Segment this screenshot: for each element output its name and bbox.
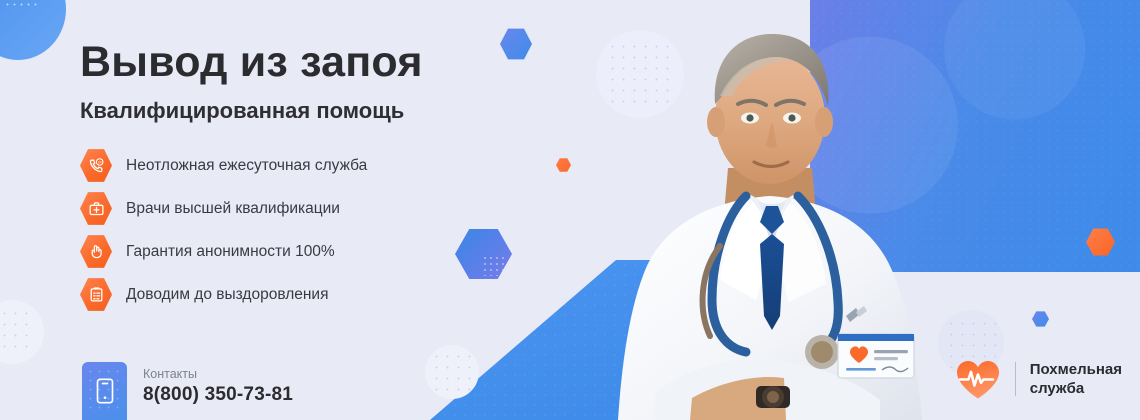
phone-24h-icon: 24 [80, 149, 112, 183]
brand-logo[interactable]: Похмельная служба [955, 358, 1122, 400]
feature-list: 24 Неотложная ежесуточная служба Врачи в… [80, 144, 367, 316]
list-item-label: Неотложная ежесуточная служба [126, 157, 367, 175]
contacts-block[interactable]: Контакты 8(800) 350-73-81 [82, 362, 293, 420]
list-item: 24 Неотложная ежесуточная служба [80, 144, 367, 187]
list-item: Гарантия анонимности 100% [80, 230, 367, 273]
logo-text: Похмельная служба [1030, 360, 1122, 398]
logo-divider [1015, 362, 1016, 396]
promo-banner: Вывод из запоя Квалифицированная помощь … [0, 0, 1140, 420]
list-item-label: Гарантия анонимности 100% [126, 243, 335, 261]
doctor-photo [560, 0, 980, 420]
heart-pulse-icon [955, 358, 1001, 400]
list-item-label: Врачи высшей квалификации [126, 200, 340, 218]
page-subtitle: Квалифицированная помощь [80, 98, 404, 124]
contacts-text: Контакты 8(800) 350-73-81 [127, 366, 293, 420]
logo-text-line2: служба [1030, 380, 1084, 397]
list-item-label: Доводим до выздоровления [126, 286, 328, 304]
mobile-phone-icon [82, 362, 127, 420]
page-title: Вывод из запоя [80, 38, 423, 87]
logo-text-line1: Похмельная [1030, 361, 1122, 378]
contacts-phone-number[interactable]: 8(800) 350-73-81 [143, 382, 293, 408]
list-item: Врачи высшей квалификации [80, 187, 367, 230]
secrecy-hand-icon [80, 235, 112, 269]
decorative-circle-left [0, 300, 44, 364]
svg-text:24: 24 [97, 160, 101, 164]
hexagon-blue-small-icon [500, 28, 532, 60]
medical-briefcase-icon [80, 192, 112, 226]
clipboard-checklist-icon [80, 278, 112, 312]
decorative-circle-middle [425, 345, 479, 399]
list-item: Доводим до выздоровления [80, 273, 367, 316]
contacts-label: Контакты [143, 366, 293, 382]
hexagon-blue-large-icon [455, 228, 512, 280]
top-left-blue-circle [0, 0, 66, 60]
hexagon-blue-tiny-icon [1032, 311, 1049, 327]
